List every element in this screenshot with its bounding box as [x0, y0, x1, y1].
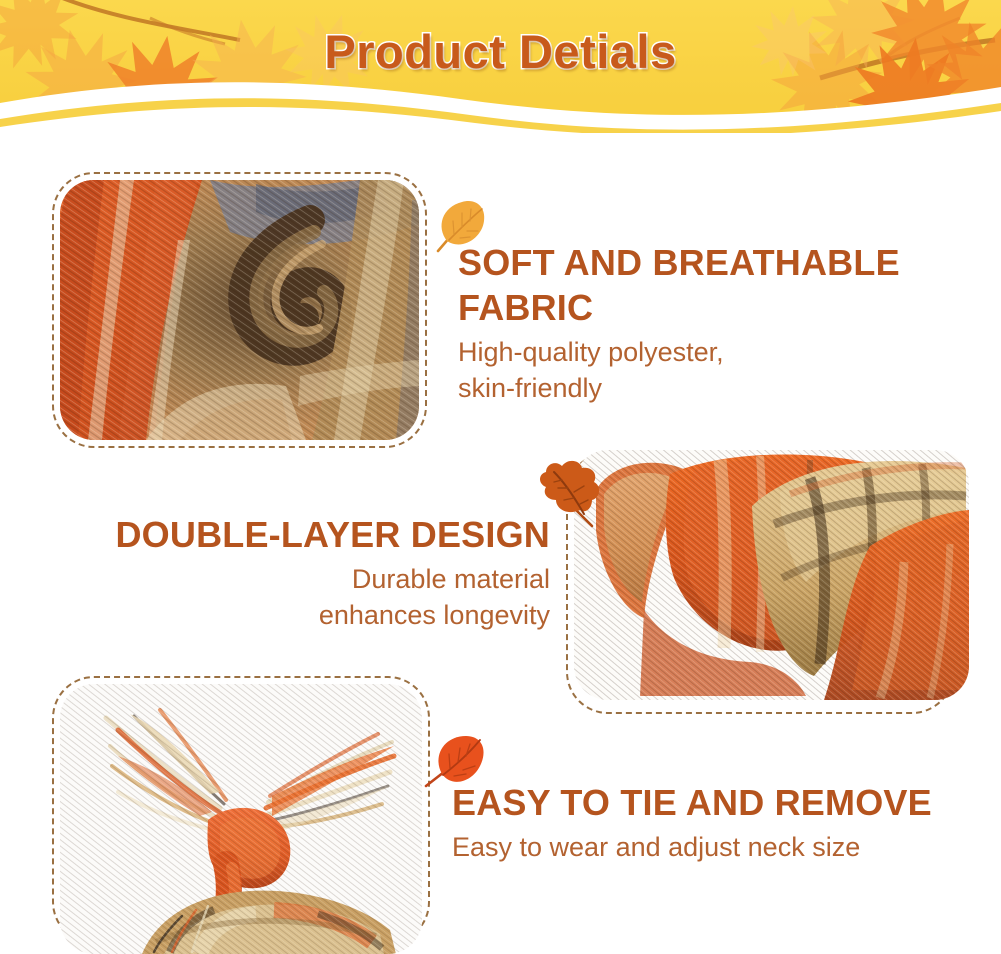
feature-headline-3: EASY TO TIE AND REMOVE — [452, 780, 992, 825]
product-photo-swirled-fabric[interactable] — [60, 180, 419, 440]
feature-subtext-3: Easy to wear and adjust neck size — [452, 829, 992, 865]
product-details-infographic: Product Detials — [0, 0, 1001, 954]
feature-photo-frame-3 — [52, 676, 430, 944]
feature-photo-frame-2 — [566, 452, 954, 714]
feature-headline-1: SOFT AND BREATHABLE FABRIC — [458, 240, 978, 330]
banner-wave-divider — [0, 73, 1001, 133]
feature-subtext-1: High-quality polyester, skin-friendly — [458, 334, 978, 407]
feature-text-1: SOFT AND BREATHABLE FABRIC High-quality … — [458, 240, 978, 407]
page-title: Product Detials — [0, 24, 1001, 79]
feature-text-3: EASY TO TIE AND REMOVE Easy to wear and … — [452, 780, 992, 865]
feature-headline-2: DOUBLE-LAYER DESIGN — [60, 512, 550, 557]
product-photo-knotted-scarf[interactable] — [60, 684, 422, 954]
feature-photo-frame-1 — [52, 172, 427, 448]
feature-text-2: DOUBLE-LAYER DESIGN Durable material enh… — [60, 512, 550, 634]
page-banner: Product Detials — [0, 0, 1001, 133]
feature-subtext-2: Durable material enhances longevity — [60, 561, 550, 634]
product-photo-folded-fabric[interactable] — [574, 450, 969, 700]
